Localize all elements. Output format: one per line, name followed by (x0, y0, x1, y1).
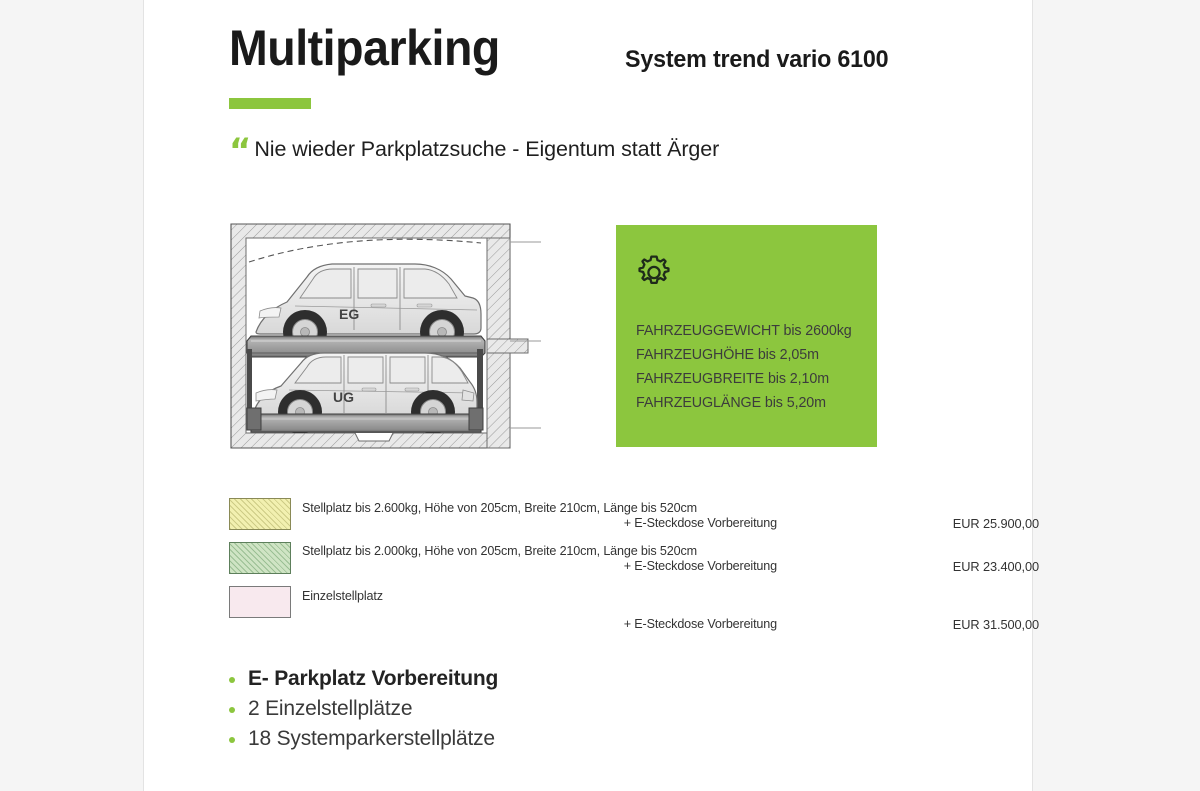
legend-addon: + E-Steckdose Vorbereitung (302, 617, 777, 631)
legend-addon: + E-Steckdose Vorbereitung (302, 559, 777, 573)
page-title: Multiparking (229, 22, 500, 75)
spec-item-length: FAHRZEUGLÄNGE bis 5,20m (636, 391, 867, 415)
quote-row: “ Nie wieder Parkplatzsuche - Eigentum s… (229, 138, 719, 165)
table-row: Stellplatz bis 2.000kg, Höhe von 205cm, … (229, 542, 999, 586)
price-legend-table: Stellplatz bis 2.600kg, Höhe von 205cm, … (229, 498, 999, 630)
legend-price: EUR 23.400,00 (789, 559, 1039, 574)
spec-item-width: FAHRZEUGBREITE bis 2,10m (636, 367, 867, 391)
spec-item-height: FAHRZEUGHÖHE bis 2,05m (636, 343, 867, 367)
table-row: Einzelstellplatz + E-Steckdose Vorbereit… (229, 586, 999, 630)
legend-description: Einzelstellplatz (302, 589, 383, 603)
list-item: 18 Systemparkerstellplätze (229, 724, 498, 754)
title-underline-rule (229, 98, 311, 109)
legend-price: EUR 25.900,00 (789, 516, 1039, 531)
feature-label: 18 Systemparkerstellplätze (248, 727, 495, 750)
feature-label: E- Parkplatz Vorbereitung (248, 667, 498, 690)
legend-addon: + E-Steckdose Vorbereitung (302, 516, 777, 530)
feature-list: E- Parkplatz Vorbereitung 2 Einzelstellp… (229, 664, 498, 754)
legend-price: EUR 31.500,00 (789, 617, 1039, 632)
spec-item-weight: FAHRZEUGGEWICHT bis 2600kg (636, 319, 867, 343)
legend-swatch-yellow (229, 498, 291, 530)
spec-list: FAHRZEUGGEWICHT bis 2600kg FAHRZEUGHÖHE … (636, 319, 867, 415)
quote-text: Nie wieder Parkplatzsuche - Eigentum sta… (254, 138, 719, 162)
legend-description: Stellplatz bis 2.000kg, Höhe von 205cm, … (302, 544, 697, 558)
legend-description: Stellplatz bis 2.600kg, Höhe von 205cm, … (302, 501, 697, 515)
dimension-lines (510, 242, 541, 428)
vehicle-label-eg: EG (339, 306, 359, 322)
vehicle-label-ug: UG (333, 389, 354, 405)
vehicle-spec-box: FAHRZEUGGEWICHT bis 2600kg FAHRZEUGHÖHE … (616, 225, 877, 447)
document-page: Multiparking System trend vario 6100 “ N… (143, 0, 1033, 791)
header-block: Multiparking System trend vario 6100 (229, 22, 989, 75)
parking-system-cross-section-drawing: EG (229, 222, 542, 450)
bullet-dot-icon (229, 737, 235, 743)
system-subtitle: System trend vario 6100 (625, 46, 888, 74)
bullet-dot-icon (229, 677, 235, 683)
bullet-dot-icon (229, 707, 235, 713)
gear-icon (635, 255, 673, 293)
feature-label: 2 Einzelstellplätze (248, 697, 412, 720)
legend-swatch-pink (229, 586, 291, 618)
legend-swatch-green (229, 542, 291, 574)
list-item: 2 Einzelstellplätze (229, 694, 498, 724)
quote-mark-icon: “ (229, 138, 251, 165)
list-item: E- Parkplatz Vorbereitung (229, 664, 498, 694)
table-row: Stellplatz bis 2.600kg, Höhe von 205cm, … (229, 498, 999, 542)
